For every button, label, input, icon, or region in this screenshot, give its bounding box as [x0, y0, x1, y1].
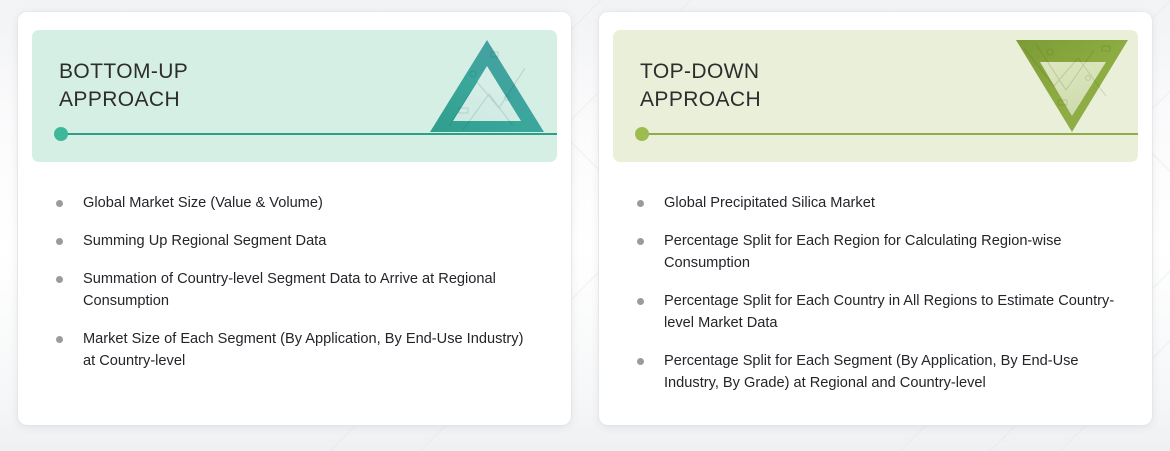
header-rule-bottom-up: [59, 133, 557, 135]
bullet-dot-icon: [637, 358, 644, 365]
bullet-dot-icon: [637, 238, 644, 245]
bullet-dot-icon: [637, 298, 644, 305]
card-header-bottom-up: BOTTOM-UP APPROACH: [32, 30, 557, 162]
triangle-down-icon: [1014, 38, 1130, 134]
list-item: Summation of Country-level Segment Data …: [52, 268, 537, 312]
bullet-dot-icon: [56, 200, 63, 207]
bullet-dot-icon: [56, 238, 63, 245]
list-item: Percentage Split for Each Country in All…: [633, 290, 1118, 334]
list-item-label: Summing Up Regional Segment Data: [83, 233, 326, 249]
list-item-label: Market Size of Each Segment (By Applicat…: [83, 331, 523, 369]
bullet-dot-icon: [56, 336, 63, 343]
approach-cards: BOTTOM-UP APPROACH: [0, 0, 1170, 451]
list-item: Global Market Size (Value & Volume): [52, 192, 537, 214]
list-item: Market Size of Each Segment (By Applicat…: [52, 328, 537, 372]
card-title-top-down: TOP-DOWN APPROACH: [640, 58, 761, 114]
card-top-down: TOP-DOWN APPROACH: [599, 12, 1152, 425]
list-item-label: Percentage Split for Each Country in All…: [664, 293, 1114, 331]
list-item-label: Global Market Size (Value & Volume): [83, 195, 323, 211]
list-item-label: Percentage Split for Each Region for Cal…: [664, 233, 1062, 271]
card-body-top-down: Global Precipitated Silica Market Percen…: [599, 162, 1152, 425]
header-rule-top-down: [640, 133, 1138, 135]
bullet-dot-icon: [56, 276, 63, 283]
card-title-bottom-up: BOTTOM-UP APPROACH: [59, 58, 188, 114]
card-header-top-down: TOP-DOWN APPROACH: [613, 30, 1138, 162]
list-item-label: Global Precipitated Silica Market: [664, 195, 875, 211]
triangle-up-icon: [429, 38, 545, 134]
header-dot-top-down: [635, 127, 649, 141]
list-item: Summing Up Regional Segment Data: [52, 230, 537, 252]
list-item: Percentage Split for Each Segment (By Ap…: [633, 350, 1118, 394]
list-item: Percentage Split for Each Region for Cal…: [633, 230, 1118, 274]
slide-canvas: BOTTOM-UP APPROACH: [0, 0, 1170, 451]
bullet-list-bottom-up: Global Market Size (Value & Volume) Summ…: [52, 192, 537, 372]
card-body-bottom-up: Global Market Size (Value & Volume) Summ…: [18, 162, 571, 425]
header-dot-bottom-up: [54, 127, 68, 141]
bullet-list-top-down: Global Precipitated Silica Market Percen…: [633, 192, 1118, 394]
list-item: Global Precipitated Silica Market: [633, 192, 1118, 214]
bullet-dot-icon: [637, 200, 644, 207]
card-bottom-up: BOTTOM-UP APPROACH: [18, 12, 571, 425]
list-item-label: Percentage Split for Each Segment (By Ap…: [664, 353, 1079, 391]
list-item-label: Summation of Country-level Segment Data …: [83, 271, 496, 309]
